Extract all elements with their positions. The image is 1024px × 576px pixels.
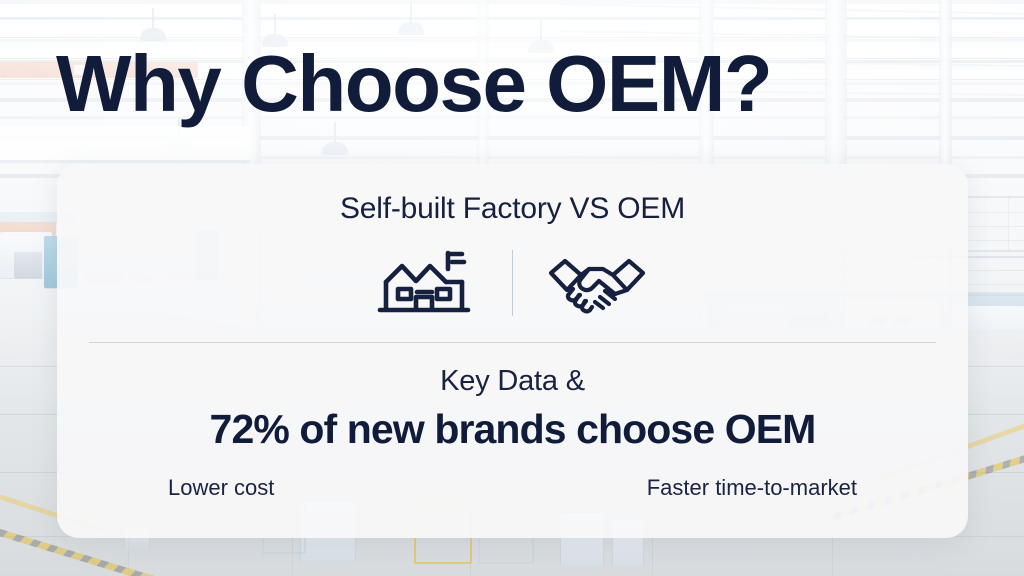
card-heading: Self-built Factory VS OEM xyxy=(57,164,968,226)
benefits-row: Lower cost Faster time-to-market xyxy=(57,475,968,501)
comparison-icon-row xyxy=(57,246,968,320)
handshake-icon-cell xyxy=(513,249,681,317)
handshake-icon xyxy=(545,249,649,317)
factory-icon xyxy=(376,249,480,317)
statistic-headline: 72% of new brands choose OEM xyxy=(57,406,968,453)
factory-icon-cell xyxy=(344,249,512,317)
benefit-lower-cost: Lower cost xyxy=(168,475,274,501)
section-divider xyxy=(89,342,936,343)
benefit-faster-time-to-market: Faster time-to-market xyxy=(647,475,857,501)
comparison-card: Self-built Factory VS OEM xyxy=(57,164,968,538)
key-data-label: Key Data & xyxy=(57,365,968,398)
slide-canvas: Why Choose OEM? Self-built Factory VS OE… xyxy=(0,0,1024,576)
page-title: Why Choose OEM? xyxy=(0,44,1024,124)
